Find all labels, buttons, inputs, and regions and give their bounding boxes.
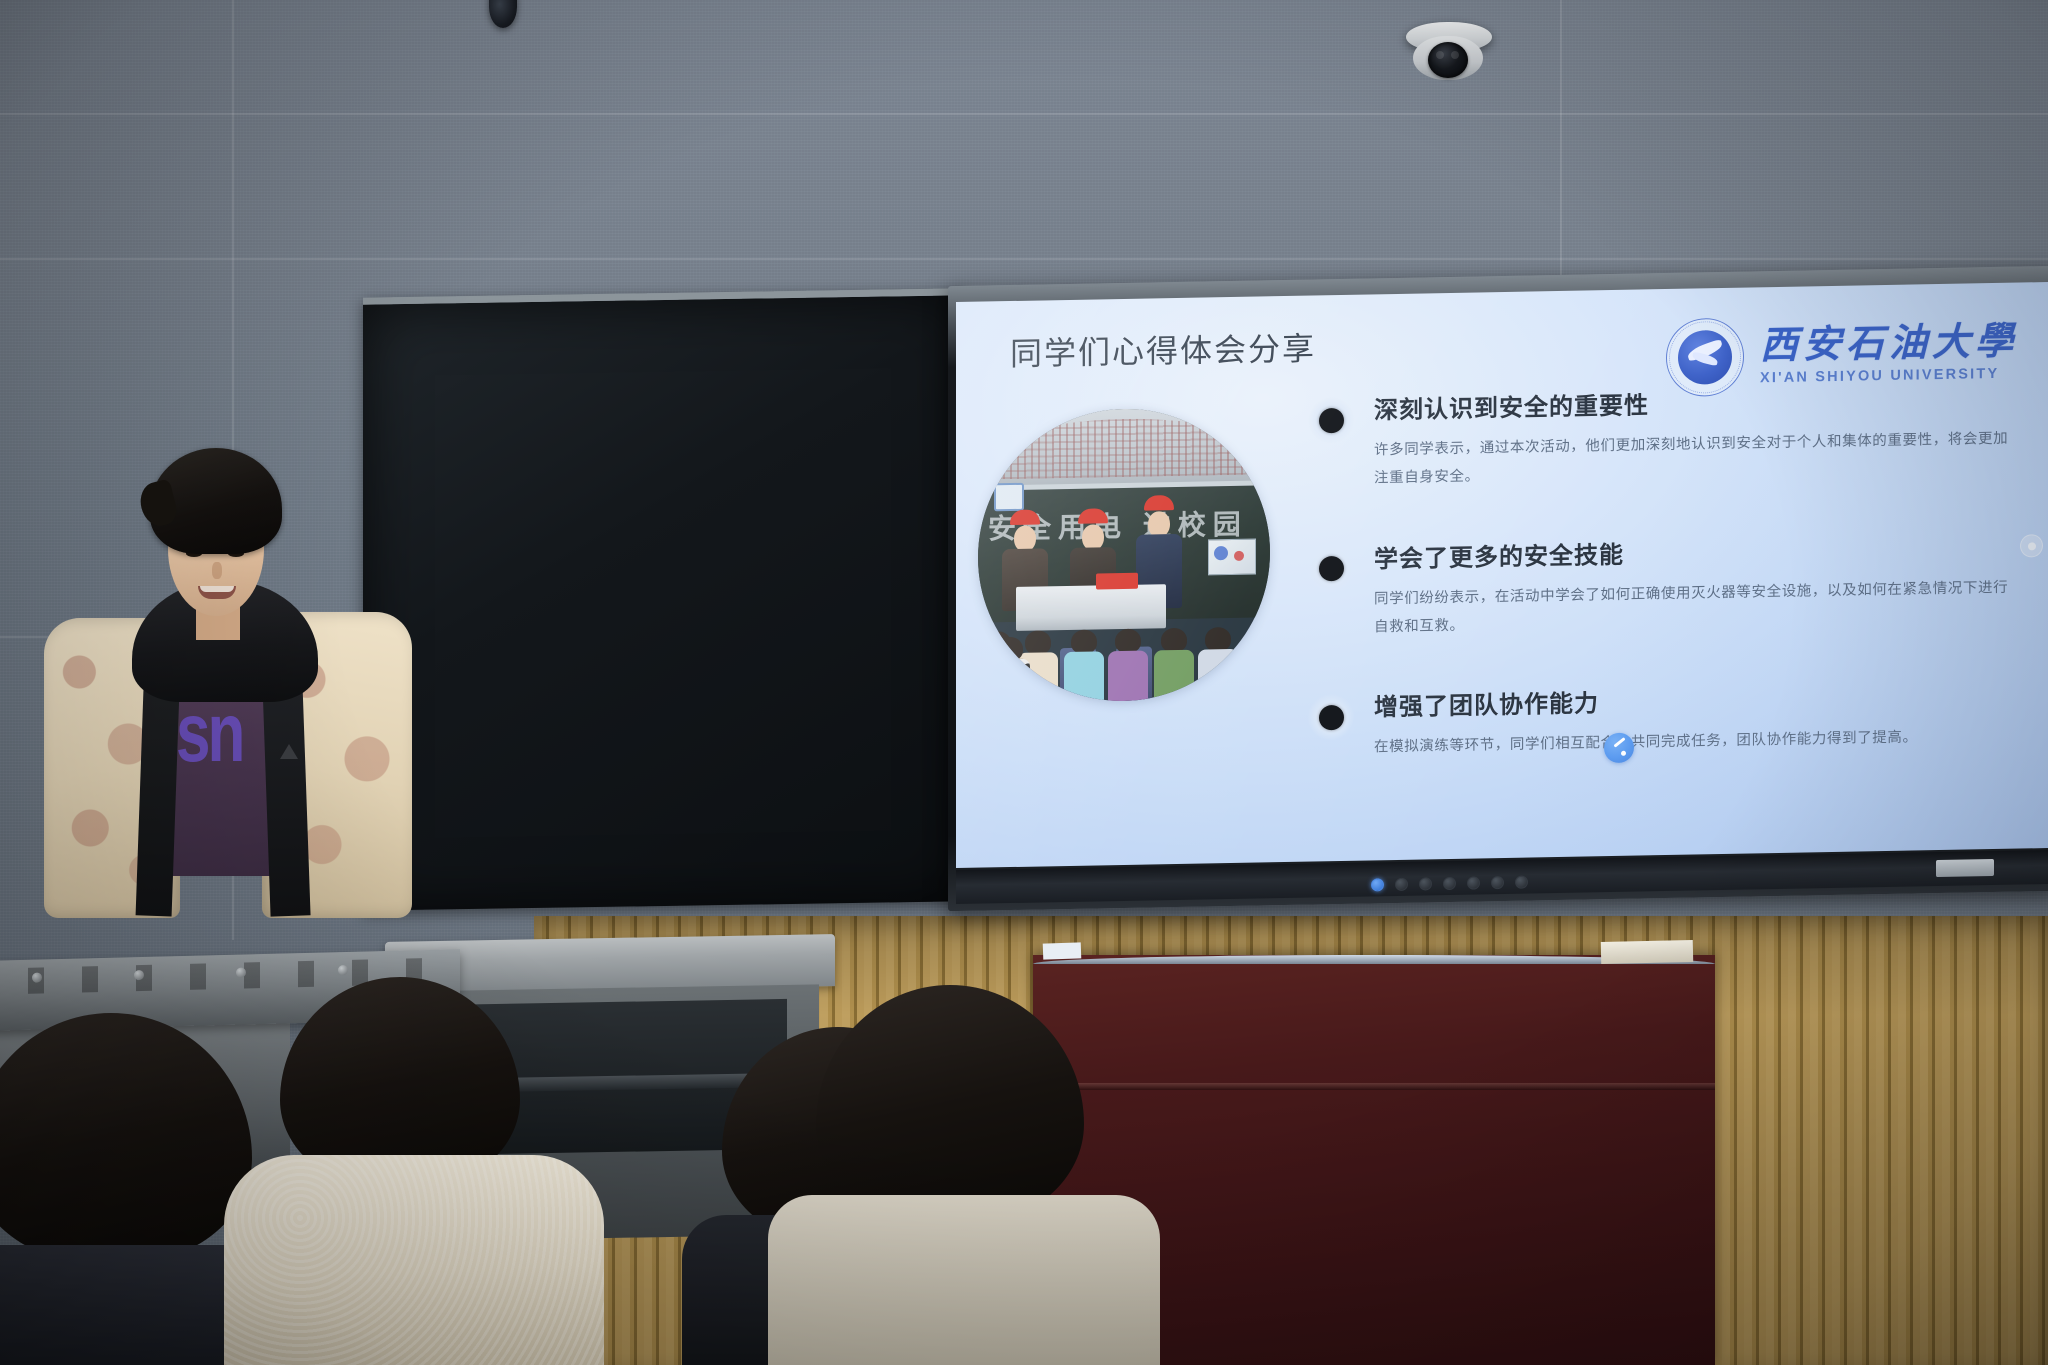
podium-papers xyxy=(1601,940,1693,964)
tile-seam xyxy=(0,258,2048,260)
slide-title: 同学们心得体会分享 xyxy=(1010,323,1316,375)
bullet-heading: 学会了更多的安全技能 xyxy=(1374,527,2022,574)
dome-camera-icon xyxy=(1406,22,1492,84)
bullet-item: 学会了更多的安全技能 同学们纷纷表示，在活动中学会了如何正确使用灭火器等安全设施… xyxy=(1308,527,2022,643)
audience-body xyxy=(768,1195,1160,1365)
photo-student xyxy=(1108,629,1148,702)
tile-seam xyxy=(1560,0,1562,290)
bullet-dot-icon xyxy=(1308,545,1354,592)
slide-photo: 安全用电 进校园 xyxy=(978,406,1270,703)
logo-name-cn: 西安石油大學 xyxy=(1760,322,2018,365)
power-indicator[interactable] xyxy=(1371,878,1384,891)
bullet-body: 同学们纷纷表示，在活动中学会了如何正确使用灭火器等安全设施，以及如何在紧急情况下… xyxy=(1374,573,2019,641)
photo-audience xyxy=(978,590,1270,703)
bullet-body: 许多同学表示，通过本次活动，他们更加深刻地认识到安全对于个人和集体的重要性，将会… xyxy=(1374,425,2019,493)
bullet-heading: 深刻认识到安全的重要性 xyxy=(1374,379,2022,426)
blackboard xyxy=(363,288,963,910)
hair xyxy=(150,448,282,554)
bezel-button-source[interactable] xyxy=(1395,878,1408,891)
photo-student xyxy=(1154,628,1194,701)
audience-member xyxy=(250,977,580,1365)
camera-lens xyxy=(1428,42,1468,78)
display-label-tab xyxy=(1936,859,1994,877)
photo-ceiling-grid xyxy=(982,416,1266,479)
photo-red-object xyxy=(1096,573,1138,590)
slide-screen[interactable]: 同学们心得体会分享 西安石油大學 XI'AN SHIYOU UNIVERSITY xyxy=(956,282,2048,868)
photo-student xyxy=(990,637,1030,704)
mouth xyxy=(198,586,236,599)
podium-papers xyxy=(1043,942,1082,959)
blue-check-badge-icon xyxy=(1604,733,1634,764)
bezel-button-back[interactable] xyxy=(1515,876,1528,889)
slide-bullet-list: 深刻认识到安全的重要性 许多同学表示，通过本次活动，他们更加深刻地认识到安全对于… xyxy=(1308,379,2022,809)
nose xyxy=(212,562,222,579)
audience-body xyxy=(224,1155,604,1365)
interactive-smartboard[interactable]: 同学们心得体会分享 西安石油大學 XI'AN SHIYOU UNIVERSITY xyxy=(948,266,2048,911)
bezel-button-volume-up[interactable] xyxy=(1443,877,1456,890)
podium-lip xyxy=(1033,1083,1715,1090)
bullet-dot-icon xyxy=(1308,397,1354,444)
bullet-item: 深刻认识到安全的重要性 许多同学表示，通过本次活动，他们更加深刻地认识到安全对于… xyxy=(1308,379,2022,495)
audience-member xyxy=(790,985,1120,1365)
display-button-row[interactable] xyxy=(1371,876,1528,892)
bullet-heading: 增强了团队协作能力 xyxy=(1374,676,2022,723)
photo-ceiling xyxy=(978,406,1270,489)
display-brand xyxy=(1381,867,1385,876)
photo-poster xyxy=(1208,539,1256,576)
bezel-button-home[interactable] xyxy=(1491,876,1504,889)
lecture-hall-photo: 同学们心得体会分享 西安石油大學 XI'AN SHIYOU UNIVERSITY xyxy=(0,0,2048,1365)
tile-seam xyxy=(0,113,2048,115)
bullet-body: 在模拟演练等环节，同学们相互配合，共同完成任务，团队协作能力得到了提高。 xyxy=(1374,722,2019,762)
photo-student xyxy=(1064,629,1104,702)
student-presenter: sn xyxy=(44,448,424,978)
bullet-dot-icon xyxy=(1308,694,1354,741)
edge-dot-icon[interactable] xyxy=(2020,534,2043,557)
photo-student xyxy=(1198,627,1238,700)
bezel-button-menu[interactable] xyxy=(1467,876,1480,889)
bullet-item: 增强了团队协作能力 在模拟演练等环节，同学们相互配合，共同完成任务，团队协作能力… xyxy=(1308,676,2022,763)
logo-text-block: 西安石油大學 XI'AN SHIYOU UNIVERSITY xyxy=(1760,322,2018,386)
audience-head xyxy=(816,985,1084,1225)
bezel-button-volume-down[interactable] xyxy=(1419,877,1432,890)
audience-head xyxy=(0,1013,252,1263)
